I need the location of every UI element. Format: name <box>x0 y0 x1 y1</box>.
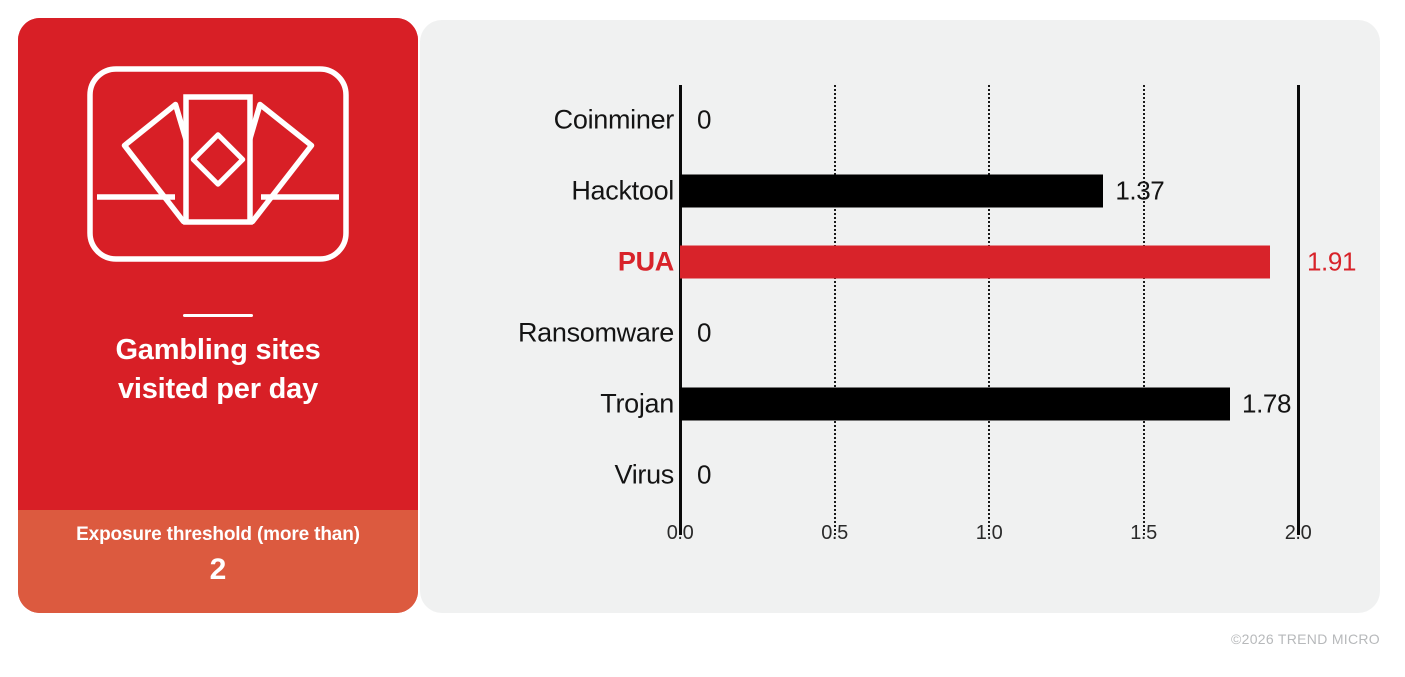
bar-value-coinminer: 0 <box>697 105 711 136</box>
x-tick-label: 2.0 <box>1285 522 1312 545</box>
bar-row: PUA1.91 <box>420 227 1380 298</box>
chart-panel: Coinminer0Hacktool1.37PUA1.91Ransomware0… <box>420 20 1380 613</box>
category-label-hacktool: Hacktool <box>571 176 674 207</box>
category-label-coinminer: Coinminer <box>554 105 674 136</box>
card-divider <box>183 314 253 317</box>
bar-hacktool <box>680 175 1103 208</box>
bar-pua <box>680 246 1270 279</box>
bar-value-trojan: 1.78 <box>1242 388 1291 419</box>
bar-value-pua: 1.91 <box>1307 247 1356 278</box>
copyright-notice: ©2026 TREND MICRO <box>1231 631 1380 647</box>
gambling-info-card: Gambling sites visited per day Exposure … <box>18 18 418 613</box>
category-label-trojan: Trojan <box>600 388 674 419</box>
category-label-ransomware: Ransomware <box>518 317 674 348</box>
category-label-pua: PUA <box>618 247 674 278</box>
exposure-threshold-value: 2 <box>18 553 418 587</box>
bar-row: Ransomware0 <box>420 298 1380 369</box>
info-card-body: Gambling sites visited per day <box>18 18 418 510</box>
category-label-virus: Virus <box>614 459 674 490</box>
bar-row: Hacktool1.37 <box>420 156 1380 227</box>
horizontal-bar-chart: Coinminer0Hacktool1.37PUA1.91Ransomware0… <box>420 20 1380 613</box>
x-tick-label: 1.0 <box>976 522 1003 545</box>
bar-row: Trojan1.78 <box>420 368 1380 439</box>
bar-value-hacktool: 1.37 <box>1115 176 1164 207</box>
bar-trojan <box>680 387 1230 420</box>
card-caption: Gambling sites visited per day <box>18 331 418 408</box>
bar-value-virus: 0 <box>697 459 711 490</box>
exposure-threshold-footer: Exposure threshold (more than) 2 <box>18 510 418 613</box>
exposure-threshold-label: Exposure threshold (more than) <box>18 524 418 546</box>
card-caption-line-1: Gambling sites <box>36 331 400 370</box>
bar-value-ransomware: 0 <box>697 317 711 348</box>
x-tick-label: 1.5 <box>1130 522 1157 545</box>
bar-row: Coinminer0 <box>420 85 1380 156</box>
bar-row: Virus0 <box>420 439 1380 510</box>
x-tick-label: 0.5 <box>821 522 848 545</box>
card-caption-line-2: visited per day <box>36 370 400 409</box>
x-tick-label: 0.0 <box>667 522 694 545</box>
playing-cards-on-table-icon <box>18 66 418 262</box>
